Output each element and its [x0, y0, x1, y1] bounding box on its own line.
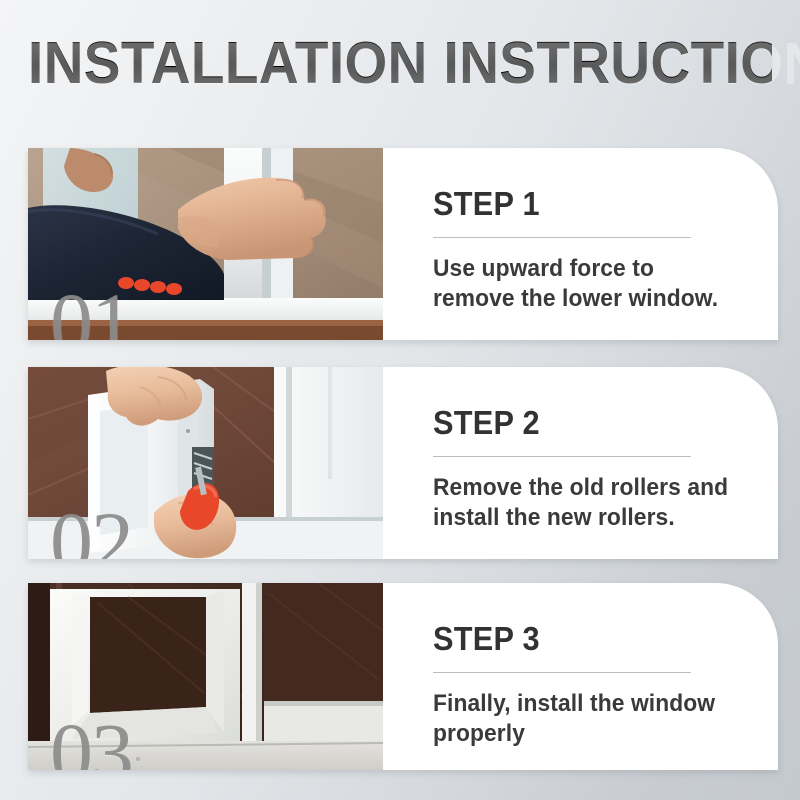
photo-installed-white-window-frame-illustration: [28, 583, 383, 770]
photo-hands-pushing-window-up-illustration: [28, 148, 383, 340]
step-heading-3: STEP 3: [433, 621, 726, 656]
photo-hands-replacing-rollers-with-screwdriver-illustration: [28, 367, 383, 559]
step-divider-2: [433, 456, 691, 457]
infographic-page: INSTALLATION INSTRUCTIONS: [0, 0, 800, 800]
step-heading-1: STEP 1: [433, 186, 726, 221]
step-text-3: STEP 3 Finally, install the window prope…: [383, 583, 778, 770]
step-card-1: 01 STEP 1 Use upward force to remove the…: [28, 148, 778, 340]
step-body-1: Use upward force to remove the lower win…: [433, 254, 732, 314]
page-title: INSTALLATION INSTRUCTIONS: [28, 30, 772, 96]
step-photo-2: 02: [28, 367, 383, 559]
step-divider-1: [433, 237, 691, 238]
step-text-2: STEP 2 Remove the old rollers and instal…: [383, 367, 778, 559]
step-body-2: Remove the old rollers and install the n…: [433, 473, 732, 533]
step-photo-1: 01: [28, 148, 383, 340]
step-heading-2: STEP 2: [433, 405, 726, 440]
step-card-2: 02 STEP 2 Remove the old rollers and ins…: [28, 367, 778, 559]
step-body-3: Finally, install the window properly: [433, 689, 732, 749]
step-text-1: STEP 1 Use upward force to remove the lo…: [383, 148, 778, 340]
step-divider-3: [433, 672, 691, 673]
step-card-3: 03 STEP 3 Finally, install the window pr…: [28, 583, 778, 770]
step-photo-3: 03: [28, 583, 383, 770]
